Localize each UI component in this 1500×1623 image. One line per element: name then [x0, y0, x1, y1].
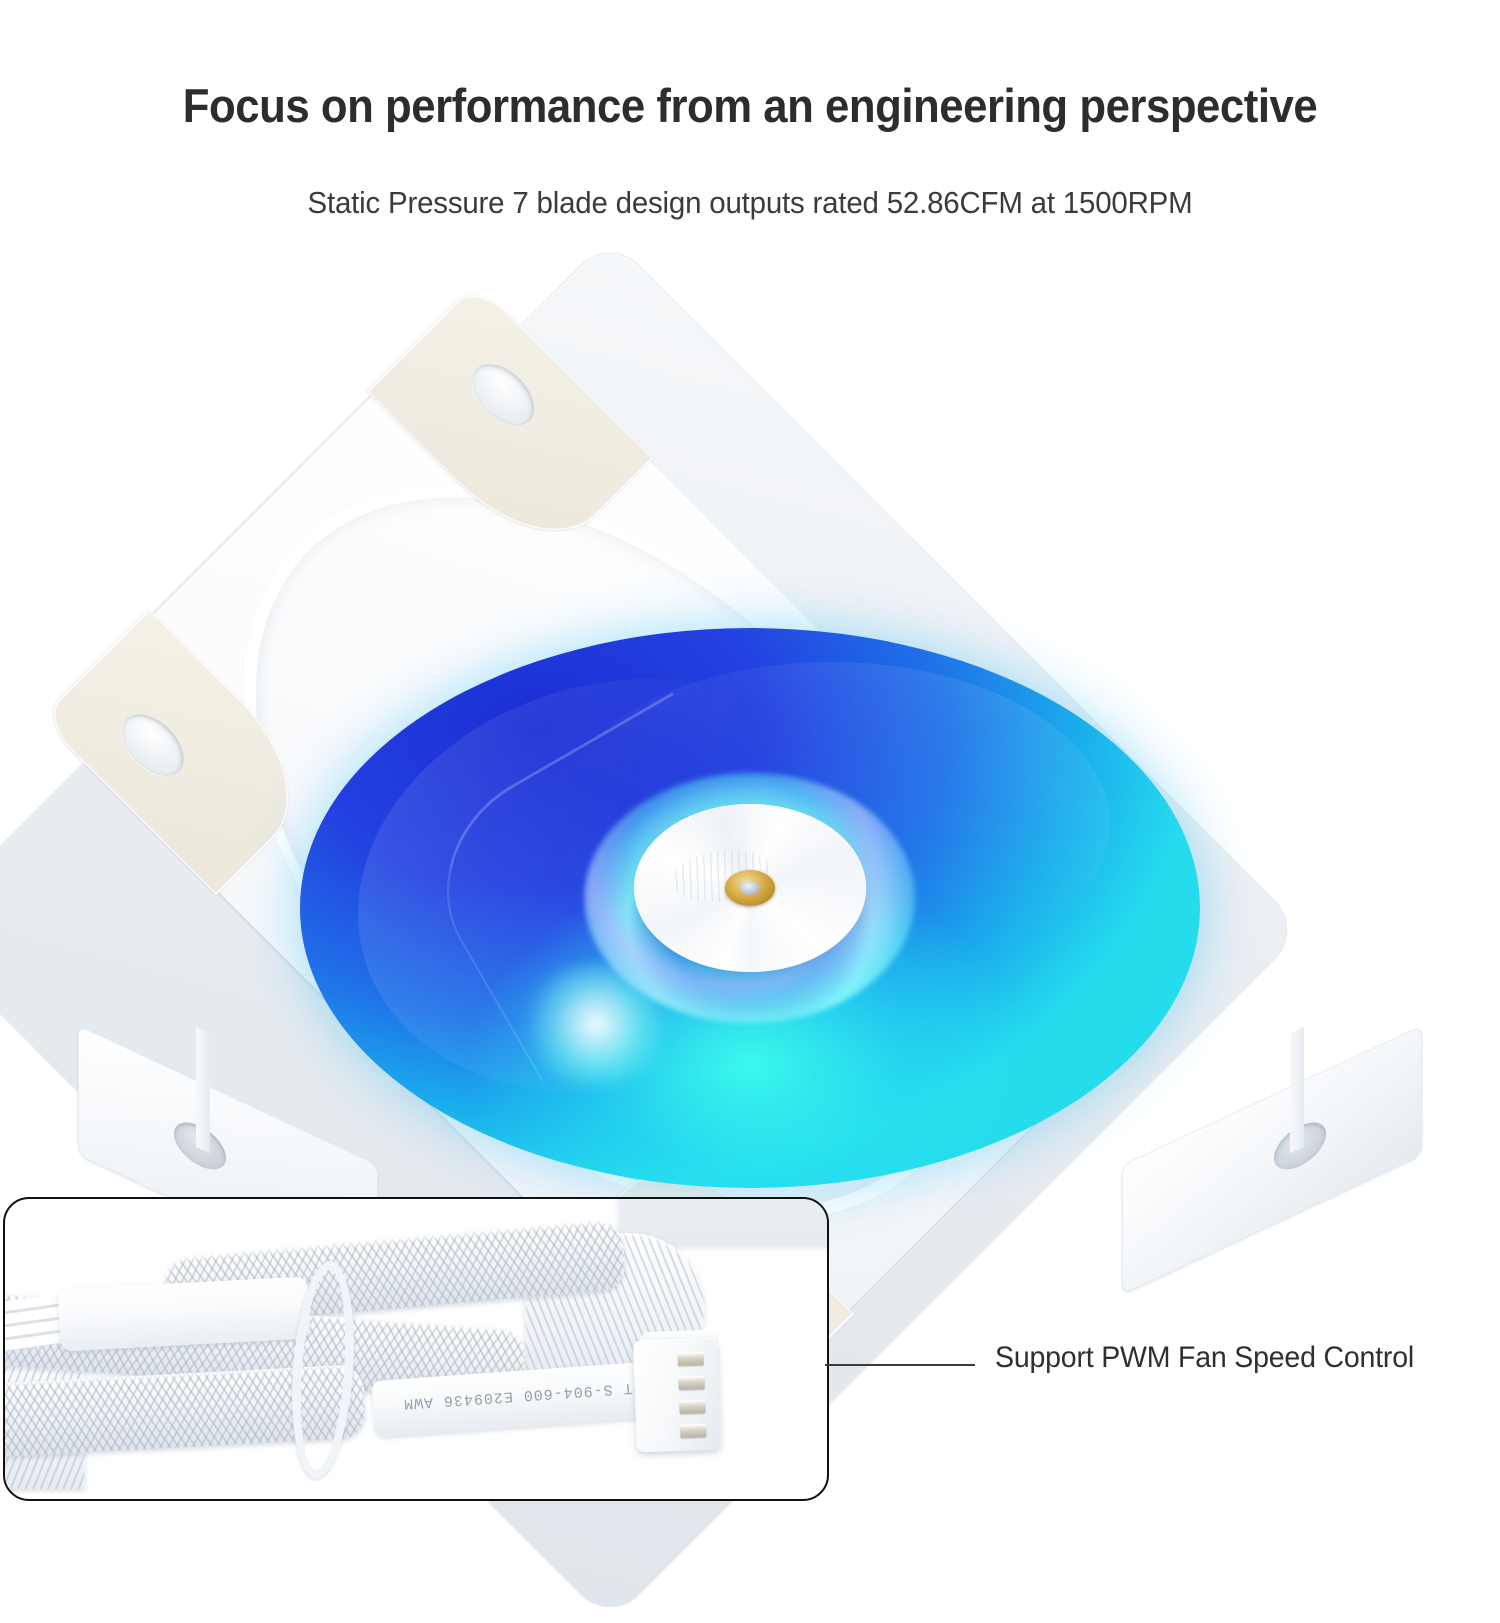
screw-hole-icon — [461, 352, 546, 437]
callout-leader-line — [825, 1364, 975, 1366]
page-subtitle: Static Pressure 7 blade design outputs r… — [38, 185, 1463, 221]
connector-pin — [679, 1400, 705, 1414]
callout-label-pwm: Support PWM Fan Speed Control — [995, 1341, 1414, 1375]
fan-support-rib-right — [1290, 1027, 1304, 1154]
connector-pin — [678, 1352, 704, 1366]
screw-hole-icon — [110, 703, 195, 788]
cable-print-text: TPT S-904-600 E209436 AWM — [382, 1378, 653, 1414]
fan-product-image — [0, 300, 1500, 1260]
connector-pin — [680, 1424, 706, 1438]
cable-inset-box: TPT S-904-600 E209436 AWM — [3, 1197, 829, 1501]
pwm-4pin-connector — [633, 1338, 721, 1453]
page-title: Focus on performance from an engineering… — [53, 78, 1448, 133]
product-marketing-slide: Focus on performance from an engineering… — [0, 0, 1500, 1500]
fan-support-rib-left — [196, 1027, 210, 1154]
hub-center-screw-icon — [725, 870, 775, 906]
cable-ferrule — [58, 1277, 311, 1352]
pwm-cable-photo: TPT S-904-600 E209436 AWM — [5, 1199, 827, 1499]
fan-hub-cap — [634, 804, 866, 972]
connector-pin — [678, 1376, 704, 1390]
fan-impeller-argb — [300, 628, 1200, 1188]
